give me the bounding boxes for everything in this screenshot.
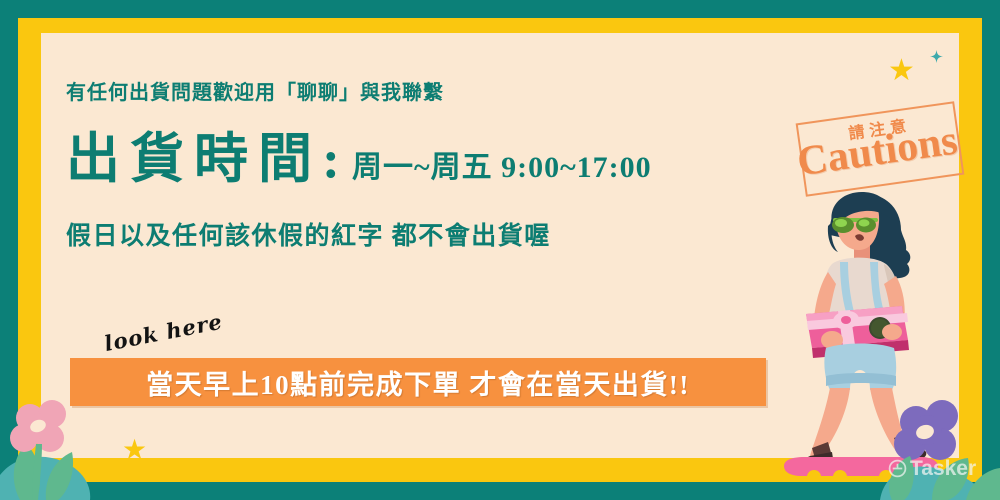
same-day-shipping-text: 當天早上10點前完成下單 才會在當天出貨!! bbox=[146, 363, 690, 402]
star-icon: ★ bbox=[888, 56, 915, 86]
tasker-watermark-text: Tasker bbox=[910, 458, 976, 479]
tasker-logo-icon bbox=[888, 459, 907, 478]
flower-decoration-right bbox=[880, 400, 1000, 500]
tasker-watermark: Tasker bbox=[888, 458, 976, 479]
headline-row: 出貨時間: 周一~周五 9:00~17:00 bbox=[66, 132, 786, 186]
subtitle-contact-line: 有任何出貨問題歡迎用「聊聊」與我聯繫 bbox=[66, 80, 786, 106]
flower-decoration-left bbox=[0, 396, 190, 500]
shipping-hours-value: 周一~周五 9:00~17:00 bbox=[352, 153, 652, 186]
shipping-notice-banner: 有任何出貨問題歡迎用「聊聊」與我聯繫 出貨時間: 周一~周五 9:00~17:0… bbox=[0, 0, 1000, 500]
page-title: 出貨時間: bbox=[66, 132, 350, 186]
text-content-block: 有任何出貨問題歡迎用「聊聊」與我聯繫 出貨時間: 周一~周五 9:00~17:0… bbox=[66, 80, 786, 252]
sparkle-icon bbox=[930, 50, 943, 63]
holiday-note: 假日以及任何該休假的紅字 都不會出貨喔 bbox=[66, 216, 786, 252]
